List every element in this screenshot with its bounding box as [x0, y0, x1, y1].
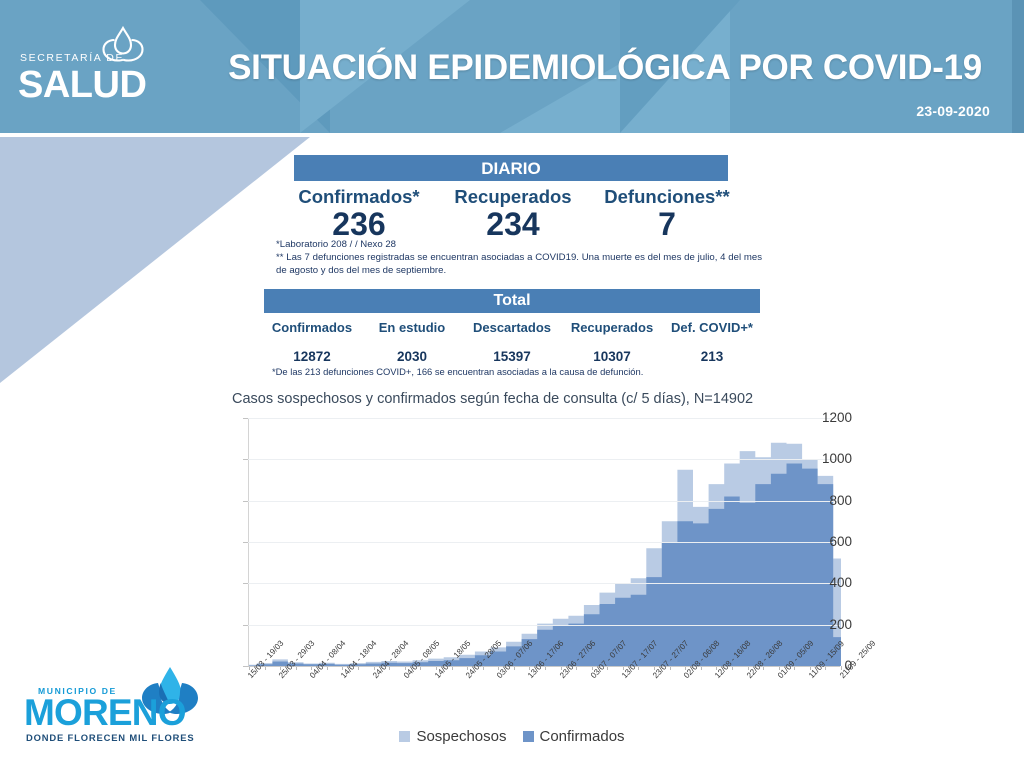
diario-band-label: DIARIO	[294, 155, 728, 181]
total-note: *De las 213 defunciones COVID+, 166 se e…	[272, 366, 752, 377]
total-label-enestudio: En estudio	[362, 320, 462, 335]
diario-note-2: ** Las 7 defunciones registradas se encu…	[276, 252, 762, 276]
diario-stat-recuperados: Recuperados 234	[436, 186, 590, 243]
chart-gridline	[248, 542, 840, 543]
total-header-enestudio: En estudio	[362, 320, 462, 335]
total-value-defcovid: 213	[662, 349, 762, 364]
chart-y-tick-mark	[243, 583, 248, 584]
chart-y-tick-mark	[243, 542, 248, 543]
logo-moreno-name: MORENO	[24, 692, 186, 734]
legend-label-confirmados: Confirmados	[540, 728, 625, 745]
total-label-recuperados: Recuperados	[562, 320, 662, 335]
diario-stat-defunciones: Defunciones** 7	[590, 186, 744, 243]
chart-y-tick-mark	[243, 666, 248, 667]
chart-y-tick-label: 400	[800, 575, 852, 590]
total-band-label: Total	[264, 289, 760, 313]
chart-area: 02004006008001000120015/03 - 19/0325/03 …	[192, 410, 852, 670]
diario-notes: *Laboratorio 208 / / Nexo 28 ** Las 7 de…	[276, 238, 762, 278]
diario-label-confirmados: Confirmados*	[282, 186, 436, 208]
chart-y-tick-label: 600	[800, 534, 852, 549]
total-header-defcovid: Def. COVID+*	[662, 320, 762, 335]
chart-gridline	[248, 625, 840, 626]
diario-stats: Confirmados* 236 Recuperados 234 Defunci…	[282, 186, 744, 243]
total-value-recuperados: 10307	[562, 349, 662, 364]
chart-y-tick-label: 200	[800, 617, 852, 632]
total-value-confirmados: 12872	[262, 349, 362, 364]
legend-item-confirmados: Confirmados	[523, 728, 625, 745]
chart-y-tick-mark	[243, 418, 248, 419]
logo-municipio-moreno: MUNICIPIO DE MORENO DONDE FLORECEN MIL F…	[24, 666, 224, 750]
diario-label-defunciones: Defunciones**	[590, 186, 744, 208]
total-header-descartados: Descartados	[462, 320, 562, 335]
total-value-descartados: 15397	[462, 349, 562, 364]
legend-label-sospechosos: Sospechosos	[416, 728, 506, 745]
header-right-strip	[1012, 0, 1024, 133]
total-headers: Confirmados En estudio Descartados Recup…	[262, 320, 762, 335]
chart-gridline	[248, 583, 840, 584]
total-header-recuperados: Recuperados	[562, 320, 662, 335]
header-banner: SECRETARÍA DE SALUD SITUACIÓN EPIDEMIOLÓ…	[0, 0, 1024, 133]
total-values: 12872 2030 15397 10307 213	[262, 349, 762, 364]
total-header-confirmados: Confirmados	[262, 320, 362, 335]
chart-y-tick-mark	[243, 625, 248, 626]
chart-y-tick-mark	[243, 459, 248, 460]
total-label-confirmados: Confirmados	[262, 320, 362, 335]
chart-gridline	[248, 501, 840, 502]
left-decor-wedge	[0, 137, 310, 383]
total-label-defcovid: Def. COVID+*	[662, 320, 762, 335]
chart-y-tick-label: 1200	[800, 410, 852, 425]
legend-swatch-sospechosos	[399, 731, 410, 742]
diario-stat-confirmados: Confirmados* 236	[282, 186, 436, 243]
chart-y-tick-mark	[243, 501, 248, 502]
diario-label-recuperados: Recuperados	[436, 186, 590, 208]
report-date: 23-09-2020	[916, 103, 990, 119]
chart-title: Casos sospechosos y confirmados según fe…	[232, 391, 753, 407]
chart-gridline	[248, 459, 840, 460]
legend-item-sospechosos: Sospechosos	[399, 728, 506, 745]
logo-moreno-sub: DONDE FLORECEN MIL FLORES	[26, 732, 194, 743]
chart-y-tick-label: 1000	[800, 451, 852, 466]
diario-note-1: *Laboratorio 208 / / Nexo 28	[276, 238, 762, 251]
total-value-enestudio: 2030	[362, 349, 462, 364]
legend-swatch-confirmados	[523, 731, 534, 742]
slide-root: SECRETARÍA DE SALUD SITUACIÓN EPIDEMIOLÓ…	[0, 0, 1024, 768]
total-label-descartados: Descartados	[462, 320, 562, 335]
chart-gridline	[248, 418, 840, 419]
page-title: SITUACIÓN EPIDEMIOLÓGICA POR COVID-19	[0, 48, 1000, 88]
chart-y-tick-label: 800	[800, 493, 852, 508]
